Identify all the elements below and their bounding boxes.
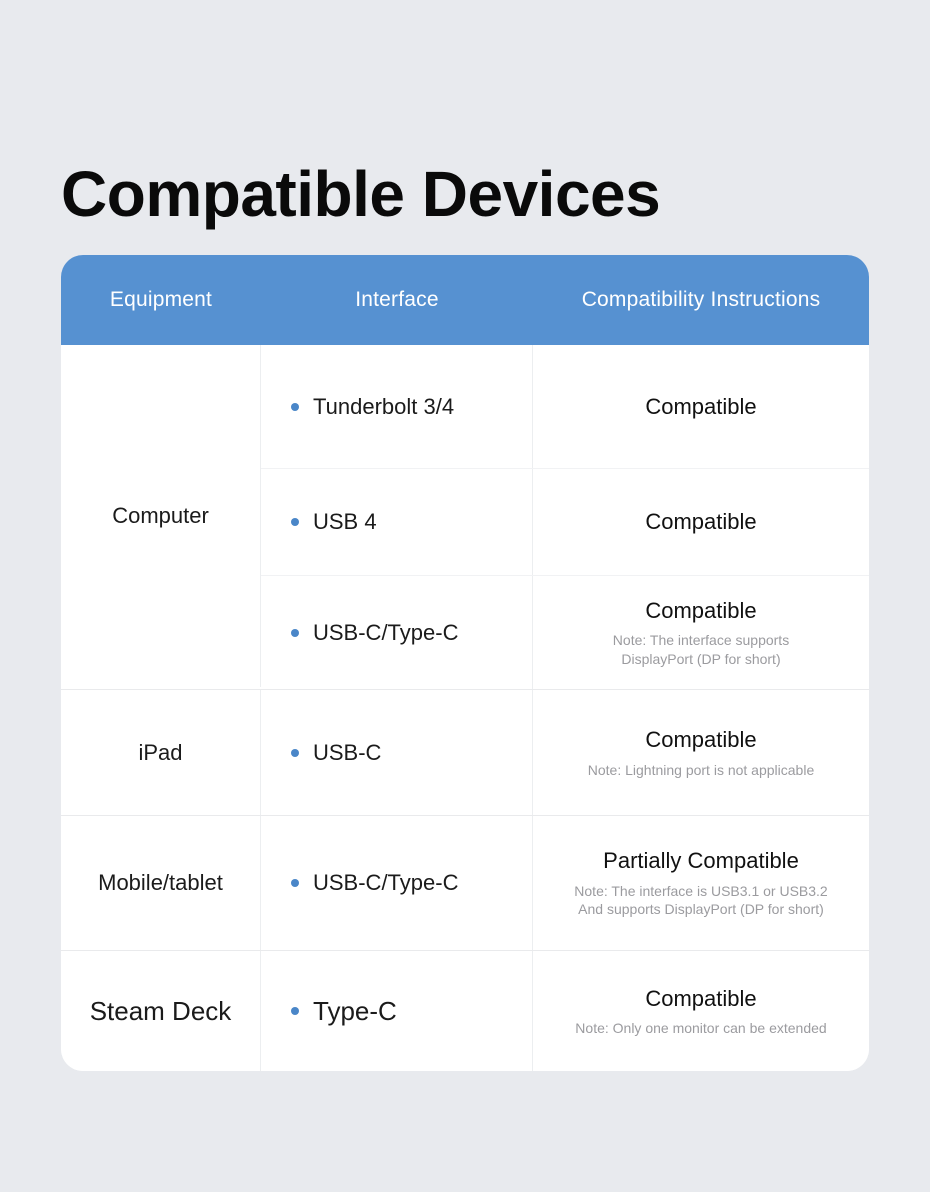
- cell-equipment: iPad: [61, 690, 261, 815]
- cell-compatibility: Compatible: [533, 469, 869, 575]
- table-row-group: ComputerTunderbolt 3/4CompatibleUSB 4Com…: [61, 345, 869, 689]
- interface-label: USB-C: [313, 740, 381, 766]
- page-root: Compatible Devices Equipment Interface C…: [0, 0, 930, 1192]
- cell-interface: USB-C/Type-C: [261, 576, 533, 689]
- column-header-equipment: Equipment: [61, 255, 261, 345]
- compatibility-status: Partially Compatible: [603, 847, 799, 875]
- cell-equipment: Mobile/tablet: [61, 816, 261, 950]
- compatibility-note: Note: The interface is USB3.1 or USB3.2 …: [574, 882, 827, 919]
- compatibility-note: Note: Only one monitor can be extended: [575, 1019, 826, 1037]
- compatibility-status: Compatible: [645, 597, 756, 625]
- cell-interface: USB-C: [261, 690, 533, 815]
- column-header-compatibility: Compatibility Instructions: [533, 255, 869, 345]
- compatibility-status: Compatible: [645, 985, 756, 1013]
- cell-compatibility: Partially CompatibleNote: The interface …: [533, 816, 869, 950]
- table-row-group: Steam DeckType-CCompatibleNote: Only one…: [61, 950, 869, 1071]
- cell-compatibility: Compatible: [533, 345, 869, 468]
- compatible-devices-table: Equipment Interface Compatibility Instru…: [61, 255, 869, 1071]
- compatibility-status: Compatible: [645, 393, 756, 421]
- equipment-label: Mobile/tablet: [98, 870, 223, 896]
- table-row: USB-CCompatibleNote: Lightning port is n…: [261, 690, 869, 815]
- group-subrows: Tunderbolt 3/4CompatibleUSB 4CompatibleU…: [261, 345, 869, 689]
- compatibility-note: Note: Lightning port is not applicable: [588, 761, 814, 779]
- cell-interface: USB-C/Type-C: [261, 816, 533, 950]
- cell-compatibility: CompatibleNote: The interface supports D…: [533, 576, 869, 689]
- compatibility-note: Note: The interface supports DisplayPort…: [613, 631, 789, 668]
- interface-label: USB 4: [313, 509, 377, 535]
- column-header-interface: Interface: [261, 255, 533, 345]
- table-row: Type-CCompatibleNote: Only one monitor c…: [261, 951, 869, 1071]
- compatibility-status: Compatible: [645, 726, 756, 754]
- bullet-icon: [291, 1007, 299, 1015]
- cell-interface: Type-C: [261, 951, 533, 1071]
- compatibility-status: Compatible: [645, 508, 756, 536]
- interface-label: Tunderbolt 3/4: [313, 394, 454, 420]
- equipment-label: iPad: [138, 740, 182, 766]
- table-body: ComputerTunderbolt 3/4CompatibleUSB 4Com…: [61, 345, 869, 1071]
- table-row: USB-C/Type-CCompatibleNote: The interfac…: [261, 575, 869, 689]
- cell-compatibility: CompatibleNote: Lightning port is not ap…: [533, 690, 869, 815]
- equipment-label: Computer: [112, 503, 209, 529]
- interface-label: USB-C/Type-C: [313, 620, 458, 646]
- interface-label: USB-C/Type-C: [313, 870, 458, 896]
- cell-interface: Tunderbolt 3/4: [261, 345, 533, 468]
- cell-equipment: Steam Deck: [61, 951, 261, 1071]
- equipment-label: Steam Deck: [90, 996, 232, 1027]
- group-subrows: Type-CCompatibleNote: Only one monitor c…: [261, 951, 869, 1071]
- group-subrows: USB-CCompatibleNote: Lightning port is n…: [261, 690, 869, 815]
- table-row: USB 4Compatible: [261, 468, 869, 575]
- bullet-icon: [291, 749, 299, 757]
- cell-equipment: Computer: [61, 345, 261, 687]
- cell-compatibility: CompatibleNote: Only one monitor can be …: [533, 951, 869, 1071]
- table-row-group: iPadUSB-CCompatibleNote: Lightning port …: [61, 689, 869, 815]
- page-title: Compatible Devices: [61, 161, 660, 228]
- table-row-group: Mobile/tabletUSB-C/Type-CPartially Compa…: [61, 815, 869, 950]
- bullet-icon: [291, 518, 299, 526]
- interface-label: Type-C: [313, 996, 397, 1027]
- table-row: USB-C/Type-CPartially CompatibleNote: Th…: [261, 816, 869, 950]
- bullet-icon: [291, 403, 299, 411]
- table-header-row: Equipment Interface Compatibility Instru…: [61, 255, 869, 345]
- group-subrows: USB-C/Type-CPartially CompatibleNote: Th…: [261, 816, 869, 950]
- bullet-icon: [291, 879, 299, 887]
- table-row: Tunderbolt 3/4Compatible: [261, 345, 869, 468]
- bullet-icon: [291, 629, 299, 637]
- cell-interface: USB 4: [261, 469, 533, 575]
